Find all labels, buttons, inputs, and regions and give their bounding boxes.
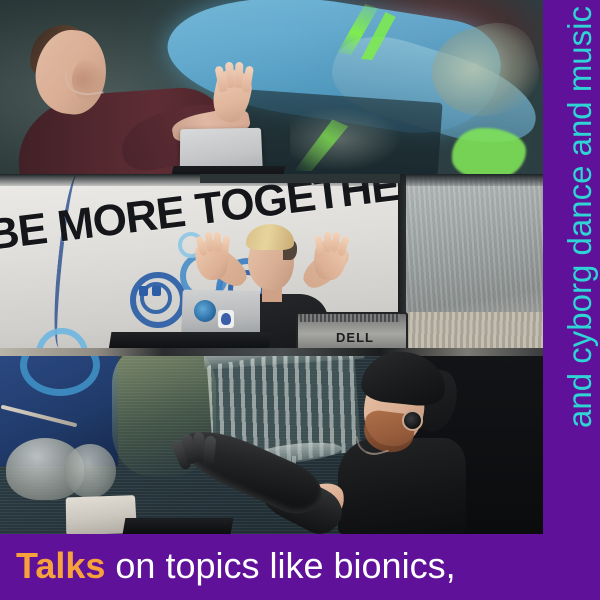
caption-rest: on topics like bionics, (105, 545, 455, 586)
banner-eyes-graphic (139, 286, 165, 296)
monitor-vent (300, 314, 400, 322)
side-wall-skirt (404, 312, 543, 348)
projected-drum (64, 444, 116, 498)
right-sidebar: and cyborg dance and music (543, 0, 600, 600)
laptop-sticker (194, 300, 216, 322)
panel-top-seam (0, 348, 543, 356)
photo-panel-be-more-together-talk: BE MORE TOGETHER (0, 174, 543, 348)
desk (123, 518, 234, 534)
hand-finger (214, 232, 222, 252)
green-accent-shape (452, 128, 526, 174)
ear-gauge (402, 410, 423, 431)
scene-2: BE MORE TOGETHER (0, 174, 543, 348)
ceiling-beam (200, 174, 400, 183)
poster-root: BE MORE TOGETHER (0, 0, 600, 600)
bottom-caption-bar: Talks on topics like bionics, (0, 534, 600, 600)
laptop-sticker (218, 310, 234, 328)
laptop-base (171, 166, 286, 174)
speaker-torso (338, 438, 466, 534)
caption-keyword: Talks (16, 545, 105, 586)
sidebar-vertical-caption: and cyborg dance and music (563, 6, 596, 428)
scene-3 (0, 348, 543, 534)
photo-column: BE MORE TOGETHER (0, 0, 543, 534)
bottom-caption: Talks on topics like bionics, (16, 542, 456, 590)
desk (109, 332, 272, 348)
scene-1 (0, 0, 543, 174)
photo-panel-bionic-arm-talk (0, 0, 543, 174)
monitor-brand-label: DELL (330, 330, 380, 345)
photo-panel-bionic-drummer-talk (0, 348, 543, 534)
